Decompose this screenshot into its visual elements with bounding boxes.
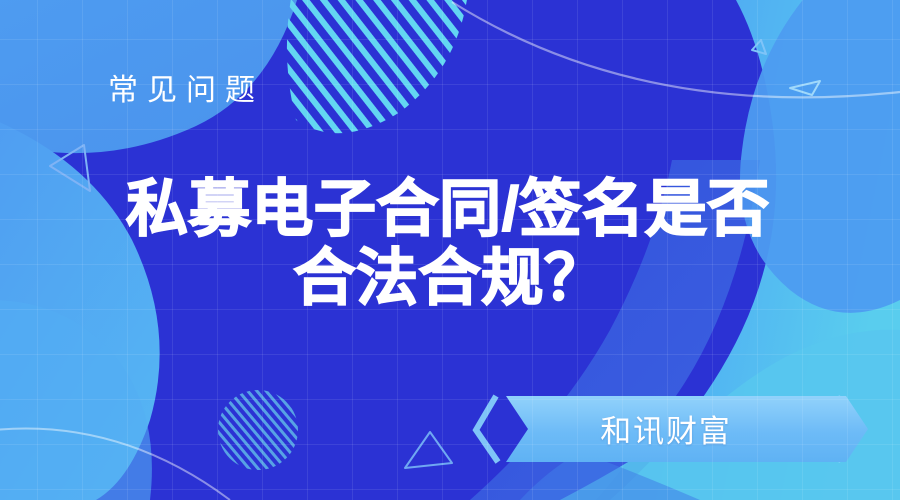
promo-card: 常见问题 私募电子合同/签名是否 合法合规？ 和讯财富 [0, 0, 900, 500]
kicker-label: 常见问题 [108, 76, 264, 106]
title-line-2: 合法合规？ [30, 244, 870, 313]
brand-banner-label: 和讯财富 [486, 392, 886, 464]
page-title: 私募电子合同/签名是否 合法合规？ [0, 175, 900, 314]
title-line-1: 私募电子合同/签名是否 [26, 175, 870, 244]
brand-banner: 和讯财富 [486, 392, 886, 464]
